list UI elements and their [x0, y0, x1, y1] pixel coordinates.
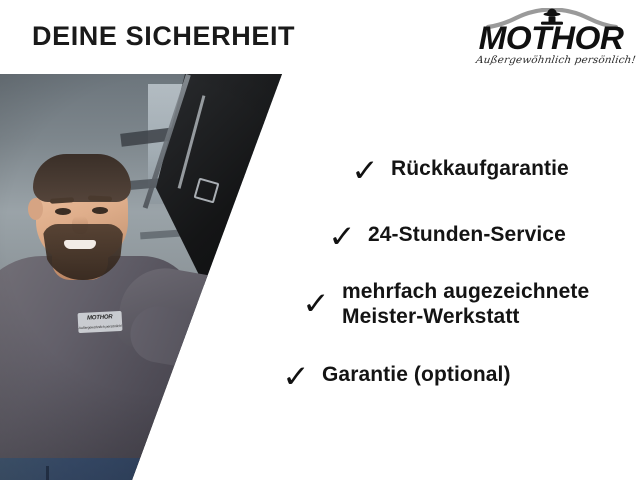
benefit-label: mehrfach augezeichneteMeister-Werkstatt — [342, 279, 589, 329]
benefit-item-rueckkaufgarantie: ✓ Rückkaufgarantie — [352, 156, 569, 186]
check-icon: ✓ — [351, 156, 379, 186]
header-bar: DEINE SICHERHEIT MOTHOR Außergewöhnlich … — [0, 0, 640, 74]
benefit-label-line2: Meister-Werkstatt — [342, 304, 589, 329]
logo-wordmark: MOTHOR — [473, 22, 629, 54]
advertisement-banner: MOTHORAußergewöhnlich persönlich! DEINE … — [0, 0, 640, 480]
benefit-item-meister-werkstatt: ✓ mehrfach augezeichneteMeister-Werkstat… — [303, 279, 589, 329]
check-icon: ✓ — [282, 362, 310, 392]
benefit-label: 24-Stunden-Service — [368, 222, 566, 247]
benefit-item-24-stunden-service: ✓ 24-Stunden-Service — [329, 222, 566, 252]
mothor-logo: MOTHOR Außergewöhnlich persönlich! — [476, 8, 626, 70]
page-title: DEINE SICHERHEIT — [32, 21, 295, 52]
benefit-label: Garantie (optional) — [322, 362, 511, 387]
logo-tagline: Außergewöhnlich persönlich! — [475, 54, 627, 65]
check-icon: ✓ — [302, 289, 330, 319]
check-icon: ✓ — [328, 222, 356, 252]
benefit-label-line1: mehrfach augezeichnete — [342, 280, 589, 303]
benefit-item-garantie-optional: ✓ Garantie (optional) — [283, 362, 511, 392]
benefits-list: ✓ Rückkaufgarantie ✓ 24-Stunden-Service … — [0, 74, 640, 480]
benefit-label: Rückkaufgarantie — [391, 156, 569, 181]
